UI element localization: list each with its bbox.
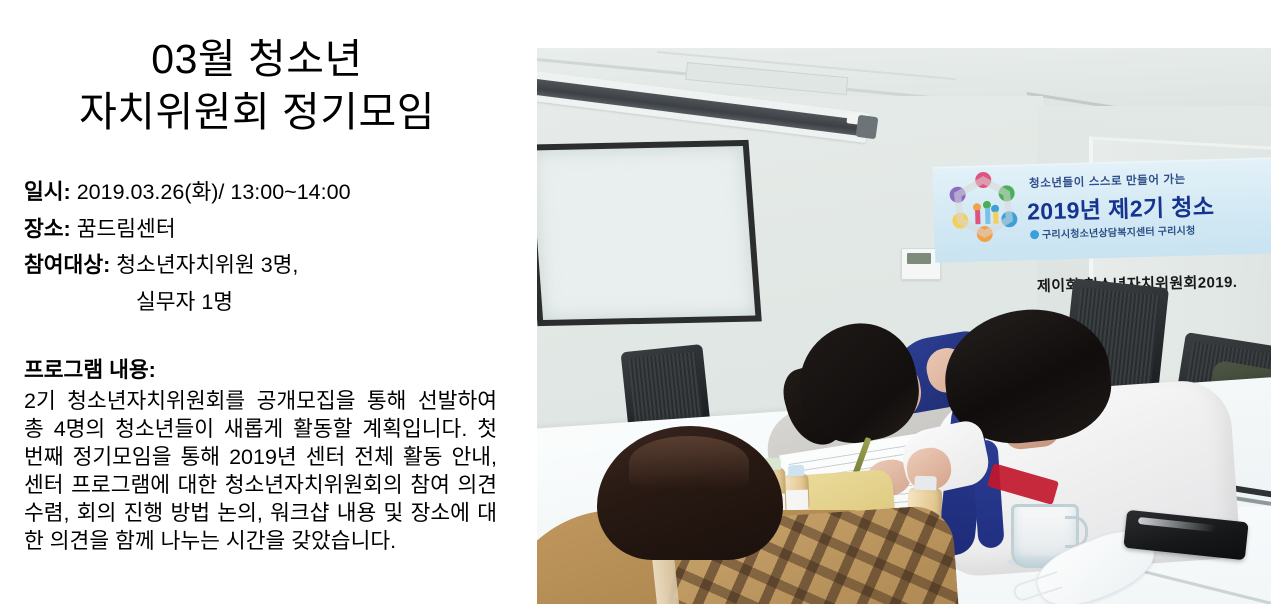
detail-row-participants-cont: 실무자 1명 [24, 292, 520, 314]
banner-line-2: 2019년 제2기 청소 [1027, 187, 1215, 226]
page-title: 03월 청소년 자치위원회 정기모임 [0, 33, 514, 140]
program-heading: 프로그램 내용: [24, 353, 156, 384]
detail-label-participants: 참여대상: [24, 253, 110, 277]
detail-label-place: 장소: [24, 217, 71, 241]
detail-row-date: 일시: 2019.03.26(화)/ 13:00~14:00 [24, 182, 520, 204]
thermostat-screen [907, 253, 931, 264]
bottle-cap [914, 476, 936, 491]
detail-value-date: 2019.03.26(화)/ 13:00~14:00 [77, 180, 351, 204]
detail-label-date: 일시: [24, 180, 71, 204]
banner-bullet-icon [1030, 230, 1039, 239]
text-column: 03월 청소년 자치위원회 정기모임 일시: 2019.03.26(화)/ 13… [0, 0, 520, 604]
person-c-hair-highlight [629, 436, 749, 490]
detail-value-place: 꿈드림센터 [77, 217, 176, 241]
phone-screen-glare [1138, 517, 1216, 532]
detail-row-participants: 참여대상: 청소년자치위원 3명, [24, 255, 520, 277]
page-title-line-1: 03월 청소년 [0, 33, 514, 86]
bottle-cap [788, 465, 804, 477]
yogurt-bottle [784, 474, 809, 515]
program-body: 2기 청소년자치위원회를 공개모집을 통해 선발하여 총 4명의 청소년들이 새… [24, 388, 497, 556]
detail-value-participants-cont: 실무자 1명 [136, 290, 233, 314]
event-details: 일시: 2019.03.26(화)/ 13:00~14:00 장소: 꿈드림센터… [24, 182, 520, 327]
whiteboard [537, 140, 762, 326]
detail-row-place: 장소: 꿈드림센터 [24, 219, 520, 241]
curtain-rail-endcap [856, 115, 879, 139]
bottle-label [786, 490, 809, 511]
poster-page: 03월 청소년 자치위원회 정기모임 일시: 2019.03.26(화)/ 13… [0, 0, 1271, 604]
youth-circle-logo-icon [946, 169, 1022, 245]
page-title-line-2: 자치위원회 정기모임 [0, 86, 514, 139]
meeting-photo: 청소년들이 스스로 만들어 가는 2019년 제2기 청소 구리시청소년상담복지… [537, 48, 1271, 604]
detail-value-participants: 청소년자치위원 3명, [116, 253, 298, 277]
